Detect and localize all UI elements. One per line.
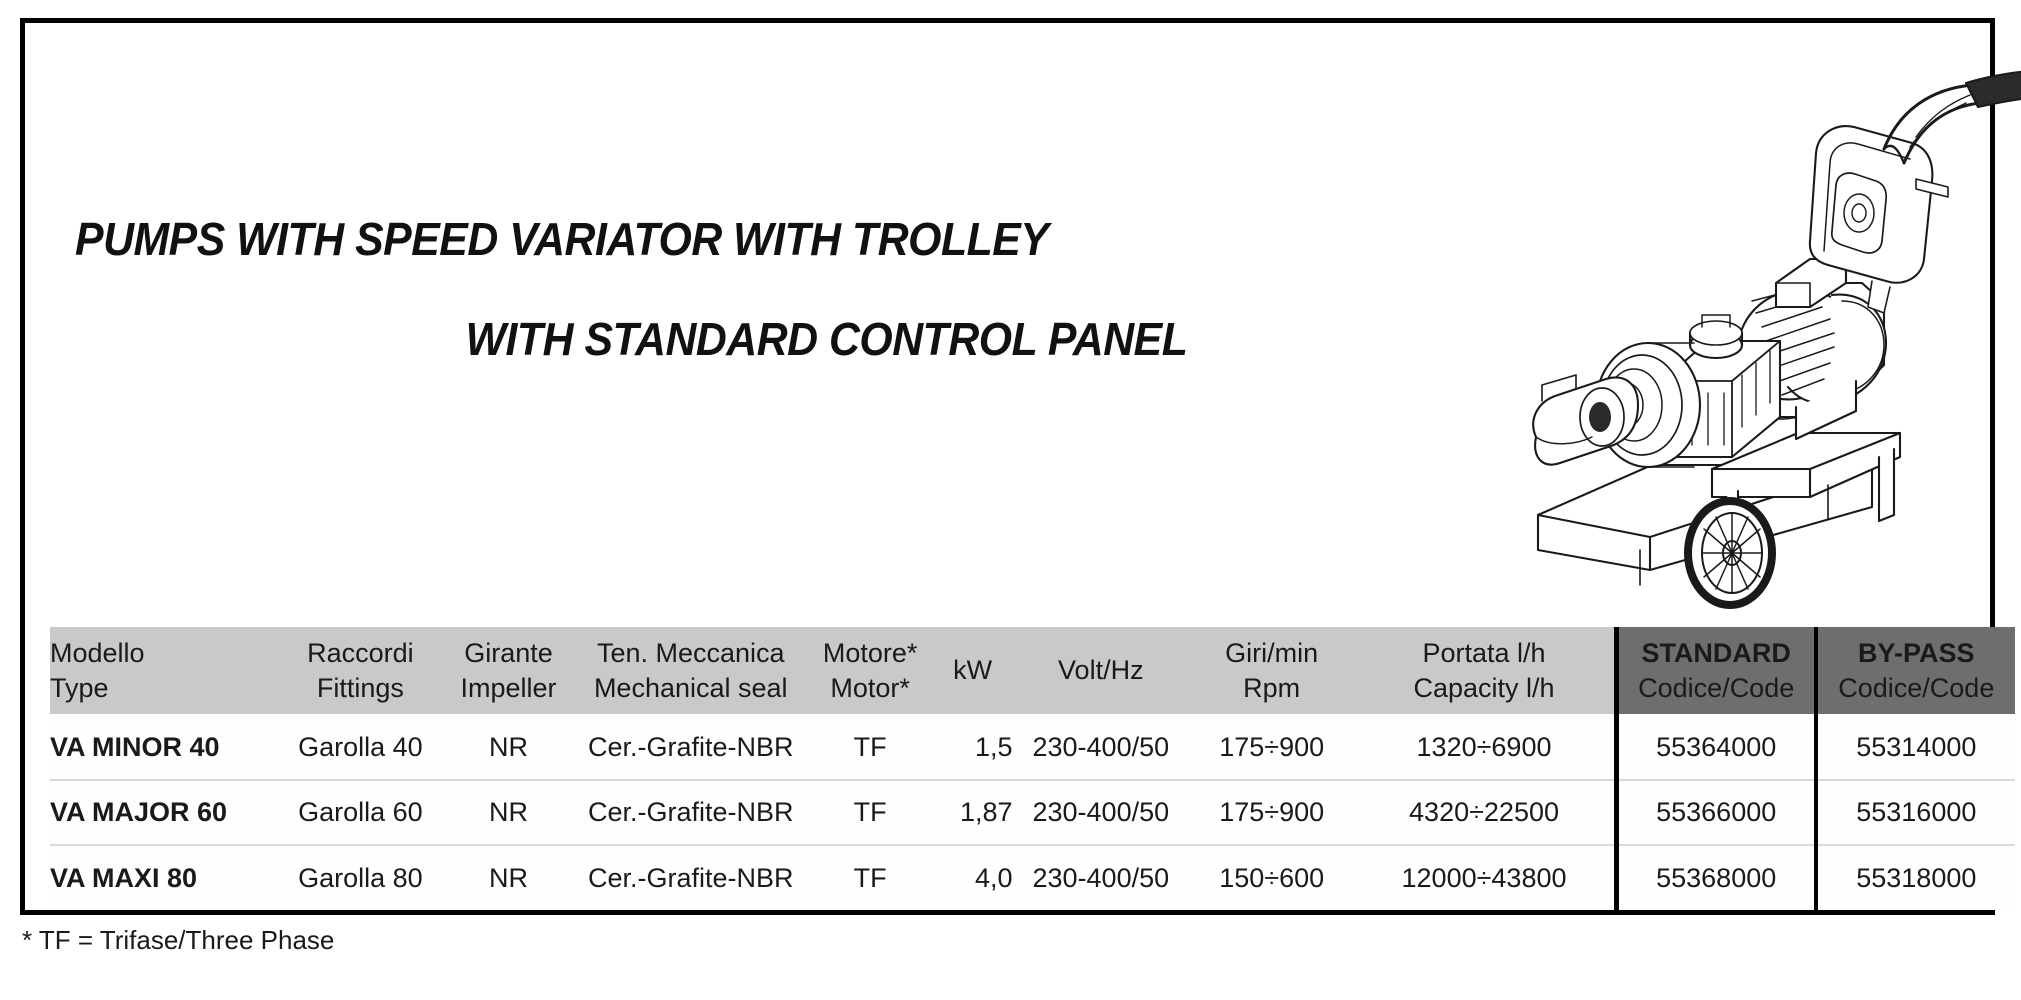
handle-bar (1884, 71, 2021, 163)
cell-kw: 4,0 (933, 845, 1013, 910)
cell-seal: Cer.-Grafite-NBR (574, 780, 808, 845)
electric-motor (1738, 259, 1886, 439)
column-header-rpm: Giri/min Rpm (1189, 627, 1354, 715)
pump-inlet-cap (1533, 375, 1638, 465)
cell-kw: 1,5 (933, 715, 1013, 780)
column-header-mechanical-seal: Ten. Meccanica Mechanical seal (574, 627, 808, 715)
cell-model: VA MAXI 80 (50, 845, 278, 910)
title-block: PUMPS WITH SPEED VARIATOR WITH TROLLEY W… (75, 215, 1465, 364)
cell-impeller: NR (443, 845, 574, 910)
cell-model: VA MINOR 40 (50, 715, 278, 780)
cell-motor: TF (808, 715, 933, 780)
cell-fittings: Garolla 60 (278, 780, 443, 845)
cell-impeller: NR (443, 715, 574, 780)
cell-rpm: 175÷900 (1189, 715, 1354, 780)
table-row: VA MINOR 40 Garolla 40 NR Cer.-Grafite-N… (50, 715, 2015, 780)
page-title-line-2: WITH STANDARD CONTROL PANEL (75, 315, 1368, 363)
cell-fittings: Garolla 40 (278, 715, 443, 780)
trolley-wheel (1688, 501, 1772, 605)
trolley-base (1538, 465, 1872, 585)
cell-volt-hz: 230-400/50 (1013, 780, 1190, 845)
trolley-deck (1712, 433, 1900, 521)
cell-volt-hz: 230-400/50 (1013, 845, 1190, 910)
cell-seal: Cer.-Grafite-NBR (574, 715, 808, 780)
column-header-code-bypass: BY-PASS Codice/Code (1816, 627, 2015, 715)
cell-kw: 1,87 (933, 780, 1013, 845)
cell-impeller: NR (443, 780, 574, 845)
cell-rpm: 175÷900 (1189, 780, 1354, 845)
cell-motor: TF (808, 780, 933, 845)
column-header-fittings: Raccordi Fittings (278, 627, 443, 715)
cell-capacity: 12000÷43800 (1354, 845, 1616, 910)
column-header-impeller: Girante Impeller (443, 627, 574, 715)
column-header-model: Modello Type (50, 627, 278, 715)
column-header-code-standard: STANDARD Codice/Code (1616, 627, 1815, 715)
table-row: VA MAXI 80 Garolla 80 NR Cer.-Grafite-NB… (50, 845, 2015, 910)
cell-code-bypass: 55314000 (1816, 715, 2015, 780)
pump-head (1596, 343, 1700, 467)
column-header-motor: Motore* Motor* (808, 627, 933, 715)
column-header-capacity: Portata l/h Capacity l/h (1354, 627, 1616, 715)
cell-model: VA MAJOR 60 (50, 780, 278, 845)
cell-code-standard: 55368000 (1616, 845, 1815, 910)
cell-capacity: 1320÷6900 (1354, 715, 1616, 780)
cell-fittings: Garolla 80 (278, 845, 443, 910)
cell-rpm: 150÷600 (1189, 845, 1354, 910)
cell-code-standard: 55366000 (1616, 780, 1815, 845)
cell-capacity: 4320÷22500 (1354, 780, 1616, 845)
table-header-row: Modello Type Raccordi Fittings Girante I… (50, 627, 2015, 715)
footnote-three-phase: * TF = Trifase/Three Phase (22, 925, 334, 956)
column-header-kw: kW (933, 627, 1013, 715)
pump-illustration (1480, 45, 2021, 625)
specification-table: Modello Type Raccordi Fittings Girante I… (50, 627, 2015, 910)
cell-seal: Cer.-Grafite-NBR (574, 845, 808, 910)
cell-code-bypass: 55316000 (1816, 780, 2015, 845)
cell-volt-hz: 230-400/50 (1013, 715, 1190, 780)
table-row: VA MAJOR 60 Garolla 60 NR Cer.-Grafite-N… (50, 780, 2015, 845)
spec-sheet-panel: PUMPS WITH SPEED VARIATOR WITH TROLLEY W… (20, 18, 1995, 915)
speed-variator-block (1662, 315, 1780, 457)
cell-code-bypass: 55318000 (1816, 845, 2015, 910)
column-header-volt-hz: Volt/Hz (1013, 627, 1190, 715)
cell-motor: TF (808, 845, 933, 910)
page-title-line-1: PUMPS WITH SPEED VARIATOR WITH TROLLEY (75, 215, 1368, 263)
cell-code-standard: 55364000 (1616, 715, 1815, 780)
control-panel (1810, 126, 1948, 313)
